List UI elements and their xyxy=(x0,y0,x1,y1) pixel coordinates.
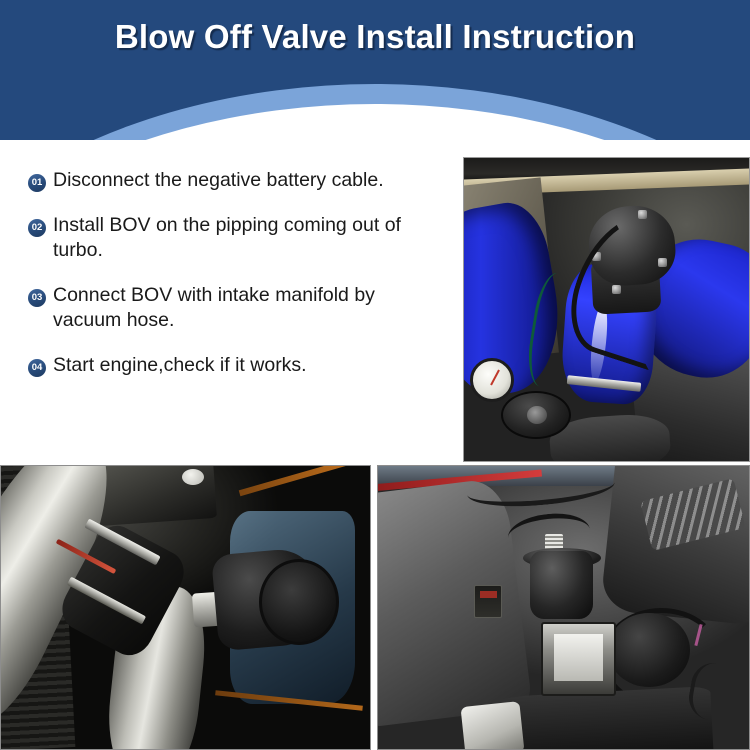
instruction-step-list: 01 Disconnect the negative battery cable… xyxy=(28,168,448,378)
photo-bottom-right-installed-valve xyxy=(377,465,750,750)
photo-detail-reservoir xyxy=(461,701,525,750)
photo-detail-pulley xyxy=(608,613,690,687)
photo-detail-sticker-label xyxy=(474,585,502,618)
step-text: Start engine,check if it works. xyxy=(53,353,448,378)
list-item: 04 Start engine,check if it works. xyxy=(28,353,448,378)
photo-detail-mounting-flange xyxy=(541,622,615,697)
photo-detail-grommet xyxy=(182,469,204,485)
photo-detail-blow-off-valve xyxy=(530,551,593,619)
photo-bottom-left-intercooler-piping xyxy=(0,465,371,750)
step-number-badge: 01 xyxy=(28,174,46,192)
step-text: Connect BOV with intake manifold by vacu… xyxy=(53,283,448,333)
list-item: 01 Disconnect the negative battery cable… xyxy=(28,168,448,193)
step-text: Install BOV on the pipping coming out of… xyxy=(53,213,448,263)
list-item: 02 Install BOV on the pipping coming out… xyxy=(28,213,448,263)
list-item: 03 Connect BOV with intake manifold by v… xyxy=(28,283,448,333)
photo-detail-cap xyxy=(501,391,571,439)
photo-detail-pressure-gauge xyxy=(470,358,514,402)
step-number-badge: 02 xyxy=(28,219,46,237)
photo-top-right-engine-bay xyxy=(463,157,750,462)
header-banner: Blow Off Valve Install Instruction xyxy=(0,0,750,140)
photo-detail-valve-ring xyxy=(259,559,339,644)
step-text: Disconnect the negative battery cable. xyxy=(53,168,448,193)
step-number-badge: 03 xyxy=(28,289,46,307)
step-number-badge: 04 xyxy=(28,359,46,377)
instruction-sheet: Blow Off Valve Install Instruction 01 Di… xyxy=(0,0,750,750)
page-title: Blow Off Valve Install Instruction xyxy=(0,14,750,60)
